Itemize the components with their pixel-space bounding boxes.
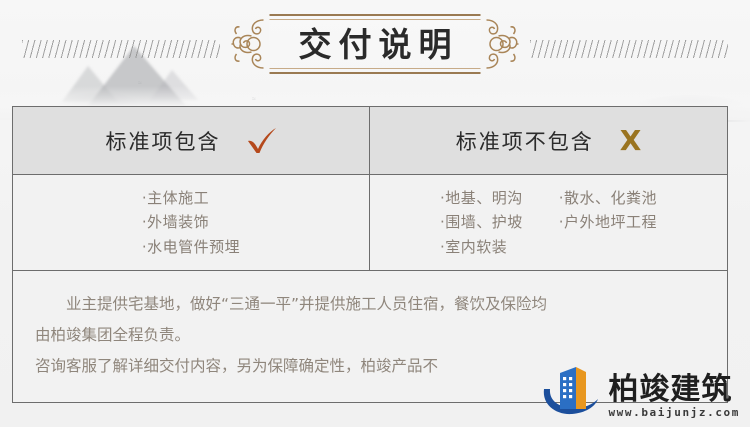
included-column-label: 标准项包含: [106, 126, 221, 156]
page-title: 交付说明: [292, 28, 459, 61]
brand-url: www.baijunjz.com: [608, 406, 740, 419]
table-header-excluded: 标准项不包含 X: [370, 107, 727, 174]
table-body-row: ·主体施工 ·外墙装饰 ·水电管件预埋 ·地基、明沟 ·围墙、护坡 ·室内软装 …: [13, 175, 727, 271]
note-line: 由柏竣集团全程负责。: [35, 320, 705, 351]
building-swoosh-logo-icon: [540, 363, 602, 419]
list-item: ·围墙、护坡: [440, 210, 523, 234]
hatch-decoration-left: [22, 40, 220, 58]
title-frame: 交付说明: [270, 14, 481, 74]
check-mark-icon: [247, 128, 277, 154]
list-item: ·户外地坪工程: [559, 210, 657, 234]
list-item: ·室内软装: [440, 235, 523, 259]
list-item: ·散水、化粪池: [559, 186, 657, 210]
excluded-items-column-2: ·散水、化粪池 ·户外地坪工程: [559, 186, 657, 259]
page-header: 交付说明: [0, 0, 750, 100]
cloud-scroll-ornament-right-icon: [481, 14, 519, 74]
note-line: 业主提供宅基地，做好“三通一平”并提供施工人员住宿，餐饮及保险均: [35, 289, 705, 320]
table-header-row: 标准项包含 标准项不包含 X: [13, 107, 727, 175]
list-item: ·水电管件预埋: [142, 235, 240, 259]
delivery-spec-table: 标准项包含 标准项不包含 X ·主体施工 ·外墙装饰 ·水电管件预埋: [12, 106, 728, 403]
x-mark-icon: X: [620, 127, 642, 155]
excluded-items-cell: ·地基、明沟 ·围墙、护坡 ·室内软装 ·散水、化粪池 ·户外地坪工程: [370, 175, 727, 270]
title-plate: 交付说明: [232, 14, 519, 74]
brand-watermark: 柏竣建筑 www.baijunjz.com: [540, 363, 740, 419]
excluded-column-label: 标准项不包含: [456, 126, 594, 156]
brand-name: 柏竣建筑: [608, 374, 732, 406]
list-item: ·主体施工: [142, 186, 240, 210]
excluded-items-list: ·地基、明沟 ·围墙、护坡 ·室内软装 ·散水、化粪池 ·户外地坪工程: [440, 186, 657, 259]
cloud-scroll-ornament-left-icon: [232, 14, 270, 74]
hatch-decoration-right: [530, 40, 728, 58]
included-items-list: ·主体施工 ·外墙装饰 ·水电管件预埋: [142, 186, 240, 259]
list-item: ·外墙装饰: [142, 210, 240, 234]
excluded-items-column-1: ·地基、明沟 ·围墙、护坡 ·室内软装: [440, 186, 523, 259]
table-header-included: 标准项包含: [13, 107, 370, 174]
included-items-cell: ·主体施工 ·外墙装饰 ·水电管件预埋: [13, 175, 370, 270]
list-item: ·地基、明沟: [440, 186, 523, 210]
